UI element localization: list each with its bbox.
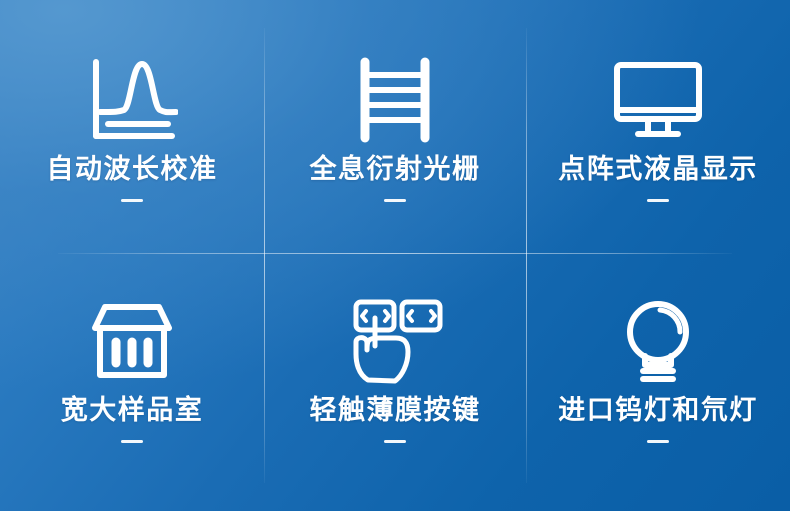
label-underline [647,440,669,443]
label-underline [384,199,406,202]
feature-grid-page: 自动波长校准 [0,0,790,511]
feature-card-membrane-touch-keys[interactable]: 轻触薄膜按键 [264,253,526,511]
feature-label: 宽大样品室 [61,397,204,424]
feature-label: 全息衍射光栅 [310,156,481,183]
feature-card-holographic-diffraction-grating[interactable]: 全息衍射光栅 [264,0,526,253]
spectrum-peak-chart-icon [86,58,178,142]
label-underline [121,199,143,202]
feature-label: 自动波长校准 [47,156,218,183]
feature-card-imported-tungsten-deuterium-lamps[interactable]: 进口钨灯和氘灯 [526,253,790,511]
feature-grid: 自动波长校准 [0,0,790,511]
feature-label: 轻触薄膜按键 [310,397,481,424]
label-underline [647,199,669,202]
grating-ladder-icon [356,58,434,142]
hand-touch-keypad-icon [346,299,444,383]
monitor-icon [612,58,704,142]
sample-chamber-box-icon [89,299,175,383]
feature-label: 进口钨灯和氘灯 [558,397,758,424]
label-underline [121,440,143,443]
feature-card-dot-matrix-lcd-display[interactable]: 点阵式液晶显示 [526,0,790,253]
feature-label: 点阵式液晶显示 [558,156,758,183]
light-bulb-icon [618,299,698,383]
label-underline [384,440,406,443]
feature-card-large-sample-chamber[interactable]: 宽大样品室 [0,253,264,511]
feature-card-auto-wavelength-calibration[interactable]: 自动波长校准 [0,0,264,253]
